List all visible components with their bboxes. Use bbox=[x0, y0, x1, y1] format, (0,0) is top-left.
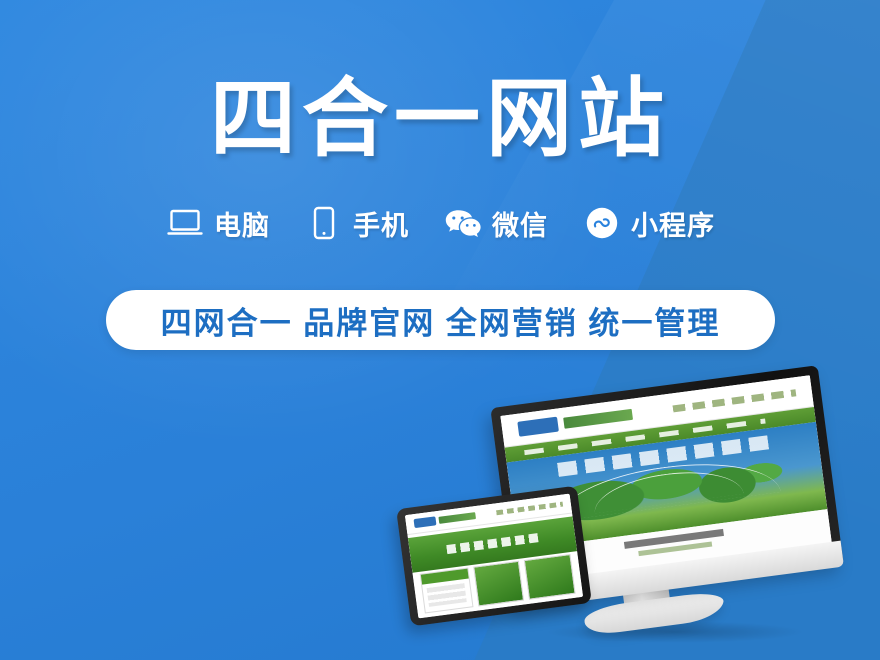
channel-label-computer: 电脑 bbox=[214, 204, 270, 243]
phone-icon bbox=[304, 203, 344, 243]
channel-list: 电脑 手机 微信 bbox=[0, 203, 880, 243]
tablet-screen bbox=[405, 494, 583, 619]
promo-banner: 四合一网站 电脑 手机 bbox=[0, 0, 880, 660]
tablet-site-logo-icon bbox=[414, 516, 437, 528]
tagline-pill: 四网合一 品牌官网 全网营销 统一管理 bbox=[106, 290, 775, 350]
device-mockup-group bbox=[395, 385, 865, 650]
channel-label-miniprogram: 小程序 bbox=[631, 204, 715, 243]
website-preview-tablet bbox=[405, 494, 583, 619]
channel-label-mobile: 手机 bbox=[353, 204, 409, 243]
tablet-sidebar-card bbox=[419, 568, 473, 614]
page-title: 四合一网站 bbox=[0, 74, 880, 164]
channel-item-computer: 电脑 bbox=[165, 203, 270, 243]
tablet-site-top-links bbox=[496, 502, 562, 515]
channel-label-wechat: 微信 bbox=[492, 204, 548, 243]
site-logo-icon bbox=[517, 417, 559, 437]
channel-item-miniprogram: 小程序 bbox=[582, 203, 715, 243]
tablet-mockup bbox=[396, 486, 592, 627]
site-top-links bbox=[672, 389, 797, 413]
tablet-product-card bbox=[473, 561, 525, 606]
tablet-site-logo-text bbox=[439, 512, 476, 523]
site-logo-text bbox=[564, 409, 633, 429]
laptop-icon bbox=[165, 203, 205, 243]
channel-item-mobile: 手机 bbox=[304, 203, 409, 243]
tagline-text: 四网合一 品牌官网 全网营销 统一管理 bbox=[161, 298, 721, 343]
miniprogram-icon bbox=[582, 203, 622, 243]
tablet-product-card bbox=[524, 554, 576, 599]
channel-item-wechat: 微信 bbox=[443, 203, 548, 243]
wechat-icon bbox=[443, 203, 483, 243]
